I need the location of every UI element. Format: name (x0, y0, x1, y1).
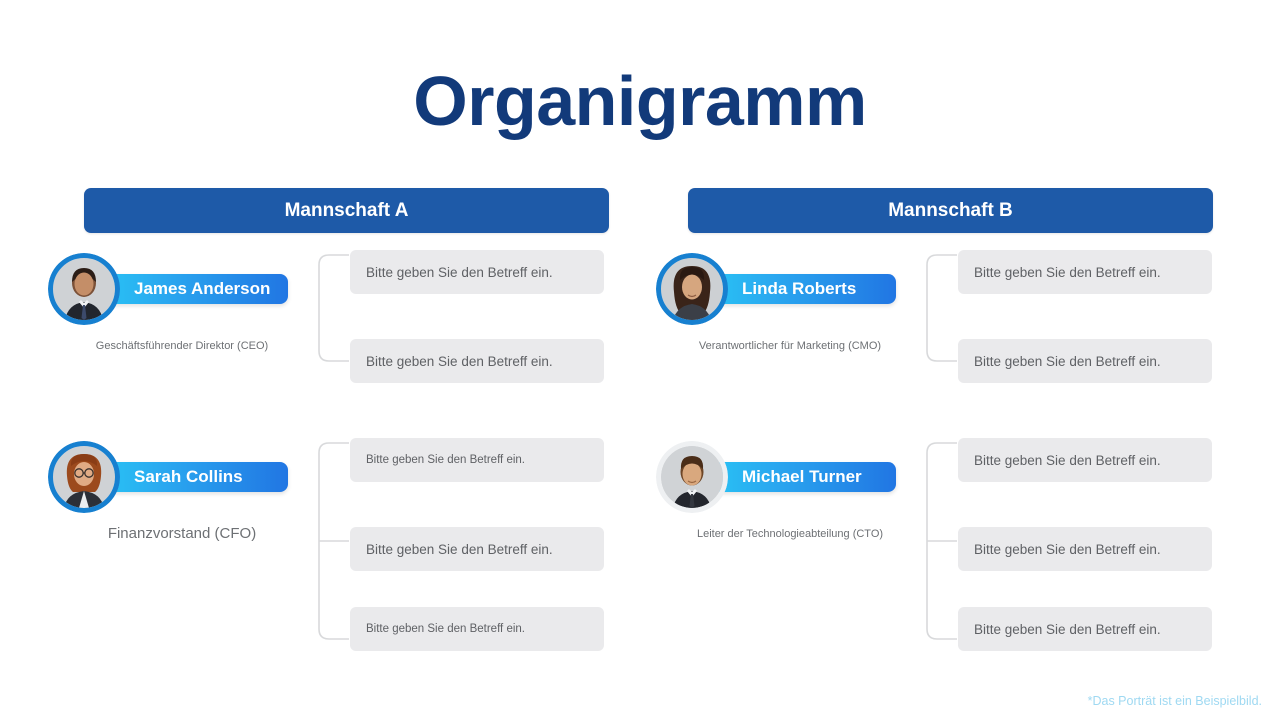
task-text: Bitte geben Sie den Betreff ein. (974, 265, 1161, 280)
task-text: Bitte geben Sie den Betreff ein. (366, 623, 525, 635)
job-title-michael-turner: Leiter der Technologieabteilung (CTO) (656, 528, 924, 540)
person-row: James Anderson (48, 250, 316, 328)
task-text: Bitte geben Sie den Betreff ein. (366, 265, 553, 280)
page-title: Organigramm (0, 58, 1280, 144)
connector-james-anderson (316, 250, 350, 366)
person-card-james-anderson[interactable]: James Anderson Geschäftsführender Direkt… (48, 250, 316, 352)
task-box[interactable]: Bitte geben Sie den Betreff ein. (350, 527, 604, 571)
connector-linda-roberts (924, 250, 958, 366)
task-text: Bitte geben Sie den Betreff ein. (974, 354, 1161, 369)
task-list-james-anderson: Bitte geben Sie den Betreff ein. Bitte g… (350, 250, 604, 383)
person-row: Michael Turner (656, 438, 924, 516)
avatar-linda-roberts (656, 253, 728, 325)
job-title-james-anderson: Geschäftsführender Direktor (CEO) (48, 340, 316, 352)
job-title-sarah-collins: Finanzvorstand (CFO) (48, 525, 316, 542)
name-bar-james-anderson[interactable]: James Anderson (94, 274, 288, 304)
task-text: Bitte geben Sie den Betreff ein. (366, 354, 553, 369)
team-column-a: Mannschaft A (84, 188, 609, 233)
person-name: James Anderson (134, 279, 288, 299)
person-card-sarah-collins[interactable]: Sarah Collins Finanzvorstand (CFO) (48, 438, 316, 542)
avatar-james-anderson (48, 253, 120, 325)
person-card-michael-turner[interactable]: Michael Turner Leiter der Technologieabt… (656, 438, 924, 540)
connector-michael-turner (924, 438, 958, 644)
person-group-sarah-collins: Sarah Collins Finanzvorstand (CFO) Bitte… (48, 438, 604, 651)
avatar-ring (48, 441, 120, 513)
person-card-linda-roberts[interactable]: Linda Roberts Verantwortlicher für Marke… (656, 250, 924, 352)
task-box[interactable]: Bitte geben Sie den Betreff ein. (350, 438, 604, 482)
avatar-ring (656, 253, 728, 325)
task-box[interactable]: Bitte geben Sie den Betreff ein. (958, 527, 1212, 571)
team-header-a: Mannschaft A (84, 188, 609, 233)
person-group-linda-roberts: Linda Roberts Verantwortlicher für Marke… (656, 250, 1212, 383)
task-list-linda-roberts: Bitte geben Sie den Betreff ein. Bitte g… (958, 250, 1212, 383)
job-title-linda-roberts: Verantwortlicher für Marketing (CMO) (656, 340, 924, 352)
task-box[interactable]: Bitte geben Sie den Betreff ein. (958, 339, 1212, 383)
task-text: Bitte geben Sie den Betreff ein. (974, 542, 1161, 557)
team-column-b: Mannschaft B (688, 188, 1213, 233)
task-box[interactable]: Bitte geben Sie den Betreff ein. (350, 607, 604, 651)
avatar-ring (48, 253, 120, 325)
connector-sarah-collins (316, 438, 350, 644)
footnote-sample-image: *Das Porträt ist ein Beispielbild. (1088, 694, 1262, 708)
task-list-sarah-collins: Bitte geben Sie den Betreff ein. Bitte g… (350, 438, 604, 651)
person-row: Sarah Collins (48, 438, 316, 516)
avatar-ring (656, 441, 728, 513)
person-name: Sarah Collins (134, 467, 261, 487)
person-group-michael-turner: Michael Turner Leiter der Technologieabt… (656, 438, 1212, 651)
task-text: Bitte geben Sie den Betreff ein. (366, 542, 553, 557)
person-name: Linda Roberts (742, 279, 874, 299)
task-text: Bitte geben Sie den Betreff ein. (974, 622, 1161, 637)
person-name: Michael Turner (742, 467, 880, 487)
task-box[interactable]: Bitte geben Sie den Betreff ein. (958, 607, 1212, 651)
avatar-sarah-collins (48, 441, 120, 513)
name-bar-linda-roberts[interactable]: Linda Roberts (702, 274, 896, 304)
task-text: Bitte geben Sie den Betreff ein. (974, 453, 1161, 468)
task-text: Bitte geben Sie den Betreff ein. (366, 454, 525, 466)
task-box[interactable]: Bitte geben Sie den Betreff ein. (350, 250, 604, 294)
person-row: Linda Roberts (656, 250, 924, 328)
name-bar-michael-turner[interactable]: Michael Turner (702, 462, 896, 492)
team-header-b: Mannschaft B (688, 188, 1213, 233)
avatar-michael-turner (656, 441, 728, 513)
person-group-james-anderson: James Anderson Geschäftsführender Direkt… (48, 250, 604, 383)
task-box[interactable]: Bitte geben Sie den Betreff ein. (958, 438, 1212, 482)
task-box[interactable]: Bitte geben Sie den Betreff ein. (958, 250, 1212, 294)
name-bar-sarah-collins[interactable]: Sarah Collins (94, 462, 288, 492)
task-list-michael-turner: Bitte geben Sie den Betreff ein. Bitte g… (958, 438, 1212, 651)
task-box[interactable]: Bitte geben Sie den Betreff ein. (350, 339, 604, 383)
